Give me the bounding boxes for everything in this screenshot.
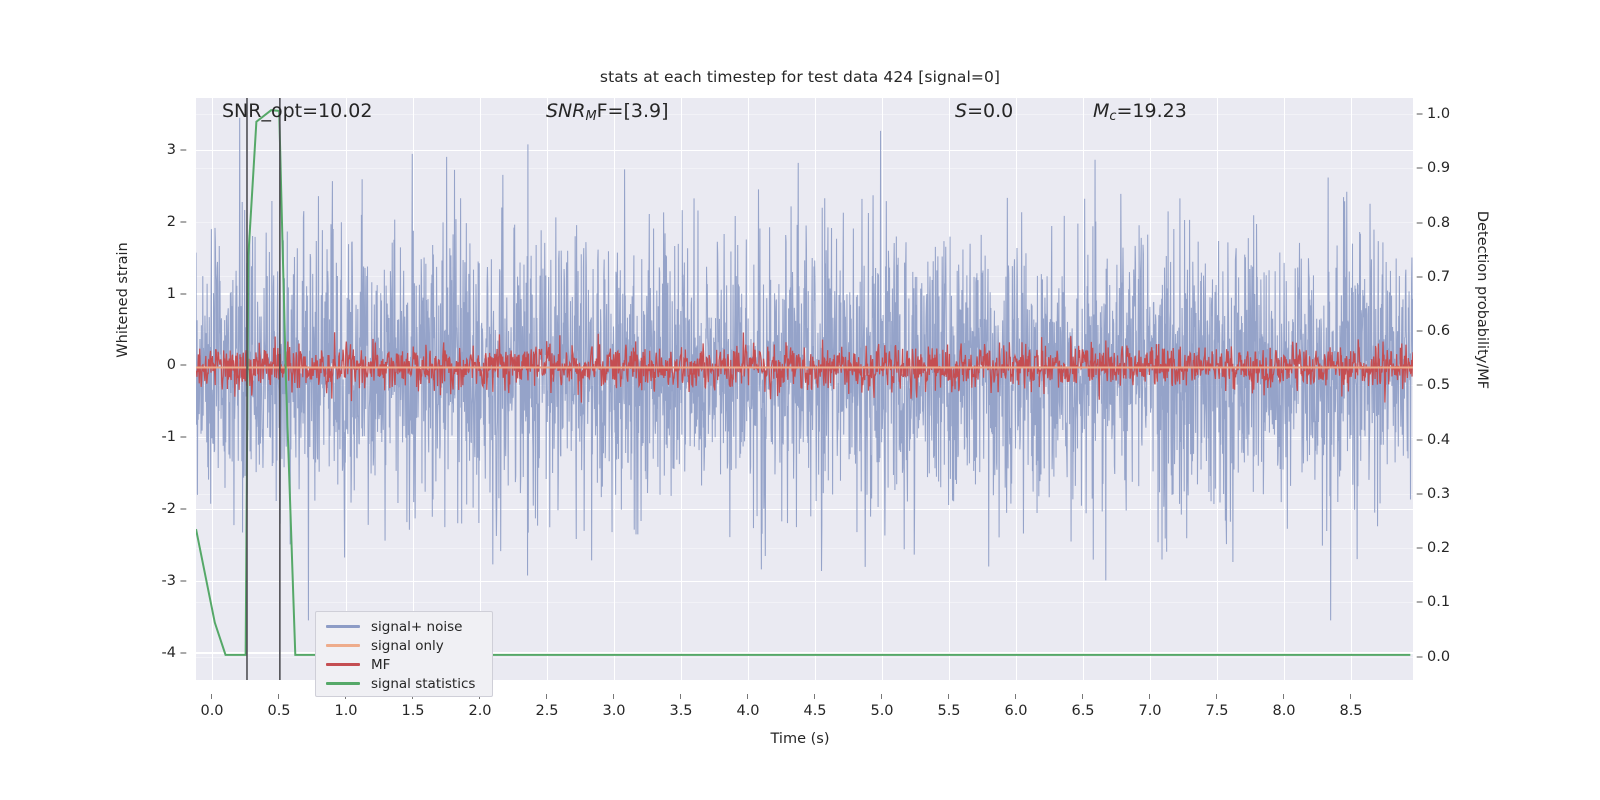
annotation-snr-opt: SNR_opt=10.02 <box>222 100 372 122</box>
xtick-6p5: 6.5 <box>1053 703 1113 719</box>
legend-item-signal-plus-noise: signal+ noise <box>316 617 492 636</box>
legend-item-signal-only: signal only <box>316 636 492 655</box>
ytick-left-0: 0 – <box>127 357 187 373</box>
xtick-6p0: 6.0 <box>986 703 1046 719</box>
ytick-left-m2: -2 – <box>127 501 187 517</box>
ytick-left-2: 2 – <box>127 214 187 230</box>
xtick-0p0: 0.0 <box>182 703 242 719</box>
legend-swatch-signal-plus-noise <box>326 625 360 627</box>
legend-swatch-signal-only <box>326 644 360 646</box>
ytick-left-3: 3 – <box>127 142 187 158</box>
xtick-0p5: 0.5 <box>249 703 309 719</box>
ytick-right-1p0: – 1.0 <box>1416 106 1496 122</box>
legend-swatch-signal-statistics <box>326 682 360 684</box>
xtick-3p0: 3.0 <box>584 703 644 719</box>
ytick-right-0p5: – 0.5 <box>1416 377 1496 393</box>
ytick-right-0p3: – 0.3 <box>1416 486 1496 502</box>
x-axis-label: Time (s) <box>0 731 1600 747</box>
series-signal-statistics <box>196 98 1413 680</box>
annotation-chirp-mass: Mc=19.23 <box>1093 100 1187 124</box>
xtick-5p0: 5.0 <box>852 703 912 719</box>
annotation-s-stat-sym: S <box>955 100 967 122</box>
xtick-8p0: 8.0 <box>1254 703 1314 719</box>
ytick-right-0p1: – 0.1 <box>1416 594 1496 610</box>
annotation-s-stat-val: =0.0 <box>967 100 1013 122</box>
annotation-chirp-mass-sub: c <box>1109 109 1116 124</box>
xtick-4p0: 4.0 <box>718 703 778 719</box>
legend-swatch-mf <box>326 663 360 665</box>
annotation-snr-opt-text: SNR_opt=10.02 <box>222 100 372 122</box>
legend-item-signal-statistics: signal statistics <box>316 674 492 693</box>
legend-label-signal-plus-noise: signal+ noise <box>371 619 462 635</box>
xtick-3p5: 3.5 <box>651 703 711 719</box>
annotation-chirp-mass-sym: M <box>1093 100 1109 122</box>
ytick-right-0p7: – 0.7 <box>1416 269 1496 285</box>
ytick-left-m3: -3 – <box>127 573 187 589</box>
xtick-2p5: 2.5 <box>517 703 577 719</box>
legend-label-signal-only: signal only <box>371 638 444 654</box>
annotation-chirp-mass-val: =19.23 <box>1117 100 1187 122</box>
figure-canvas: stats at each timestep for test data 424… <box>0 0 1600 800</box>
ytick-right-0p8: – 0.8 <box>1416 215 1496 231</box>
plot-area <box>196 98 1413 680</box>
xtick-7p5: 7.5 <box>1187 703 1247 719</box>
ytick-right-0p6: – 0.6 <box>1416 323 1496 339</box>
annotation-snr-mf-sym: SNR <box>546 100 585 122</box>
annotation-s-stat: S=0.0 <box>955 100 1013 122</box>
ytick-left-m4: -4 – <box>127 645 187 661</box>
legend: signal+ noise signal only MF signal stat… <box>315 611 493 697</box>
ytick-right-0p2: – 0.2 <box>1416 540 1496 556</box>
ytick-left-m1: -1 – <box>127 429 187 445</box>
annotation-snr-mf-sub: M <box>585 109 596 124</box>
ytick-right-0p4: – 0.4 <box>1416 432 1496 448</box>
legend-item-mf: MF <box>316 655 492 674</box>
xtick-1p0: 1.0 <box>316 703 376 719</box>
ytick-left-1: 1 – <box>127 286 187 302</box>
annotation-snr-mf: SNRMF=[3.9] <box>546 100 669 124</box>
xtick-1p5: 1.5 <box>383 703 443 719</box>
xtick-5p5: 5.5 <box>919 703 979 719</box>
xtick-7p0: 7.0 <box>1120 703 1180 719</box>
page-title: stats at each timestep for test data 424… <box>0 68 1600 86</box>
ytick-right-0p0: – 0.0 <box>1416 649 1496 665</box>
xtick-8p5: 8.5 <box>1321 703 1381 719</box>
annotation-snr-mf-val: F=[3.9] <box>597 100 669 122</box>
xtick-2p0: 2.0 <box>450 703 510 719</box>
ytick-right-0p9: – 0.9 <box>1416 160 1496 176</box>
xtick-4p5: 4.5 <box>785 703 845 719</box>
legend-label-signal-statistics: signal statistics <box>371 676 475 692</box>
legend-label-mf: MF <box>371 657 390 673</box>
